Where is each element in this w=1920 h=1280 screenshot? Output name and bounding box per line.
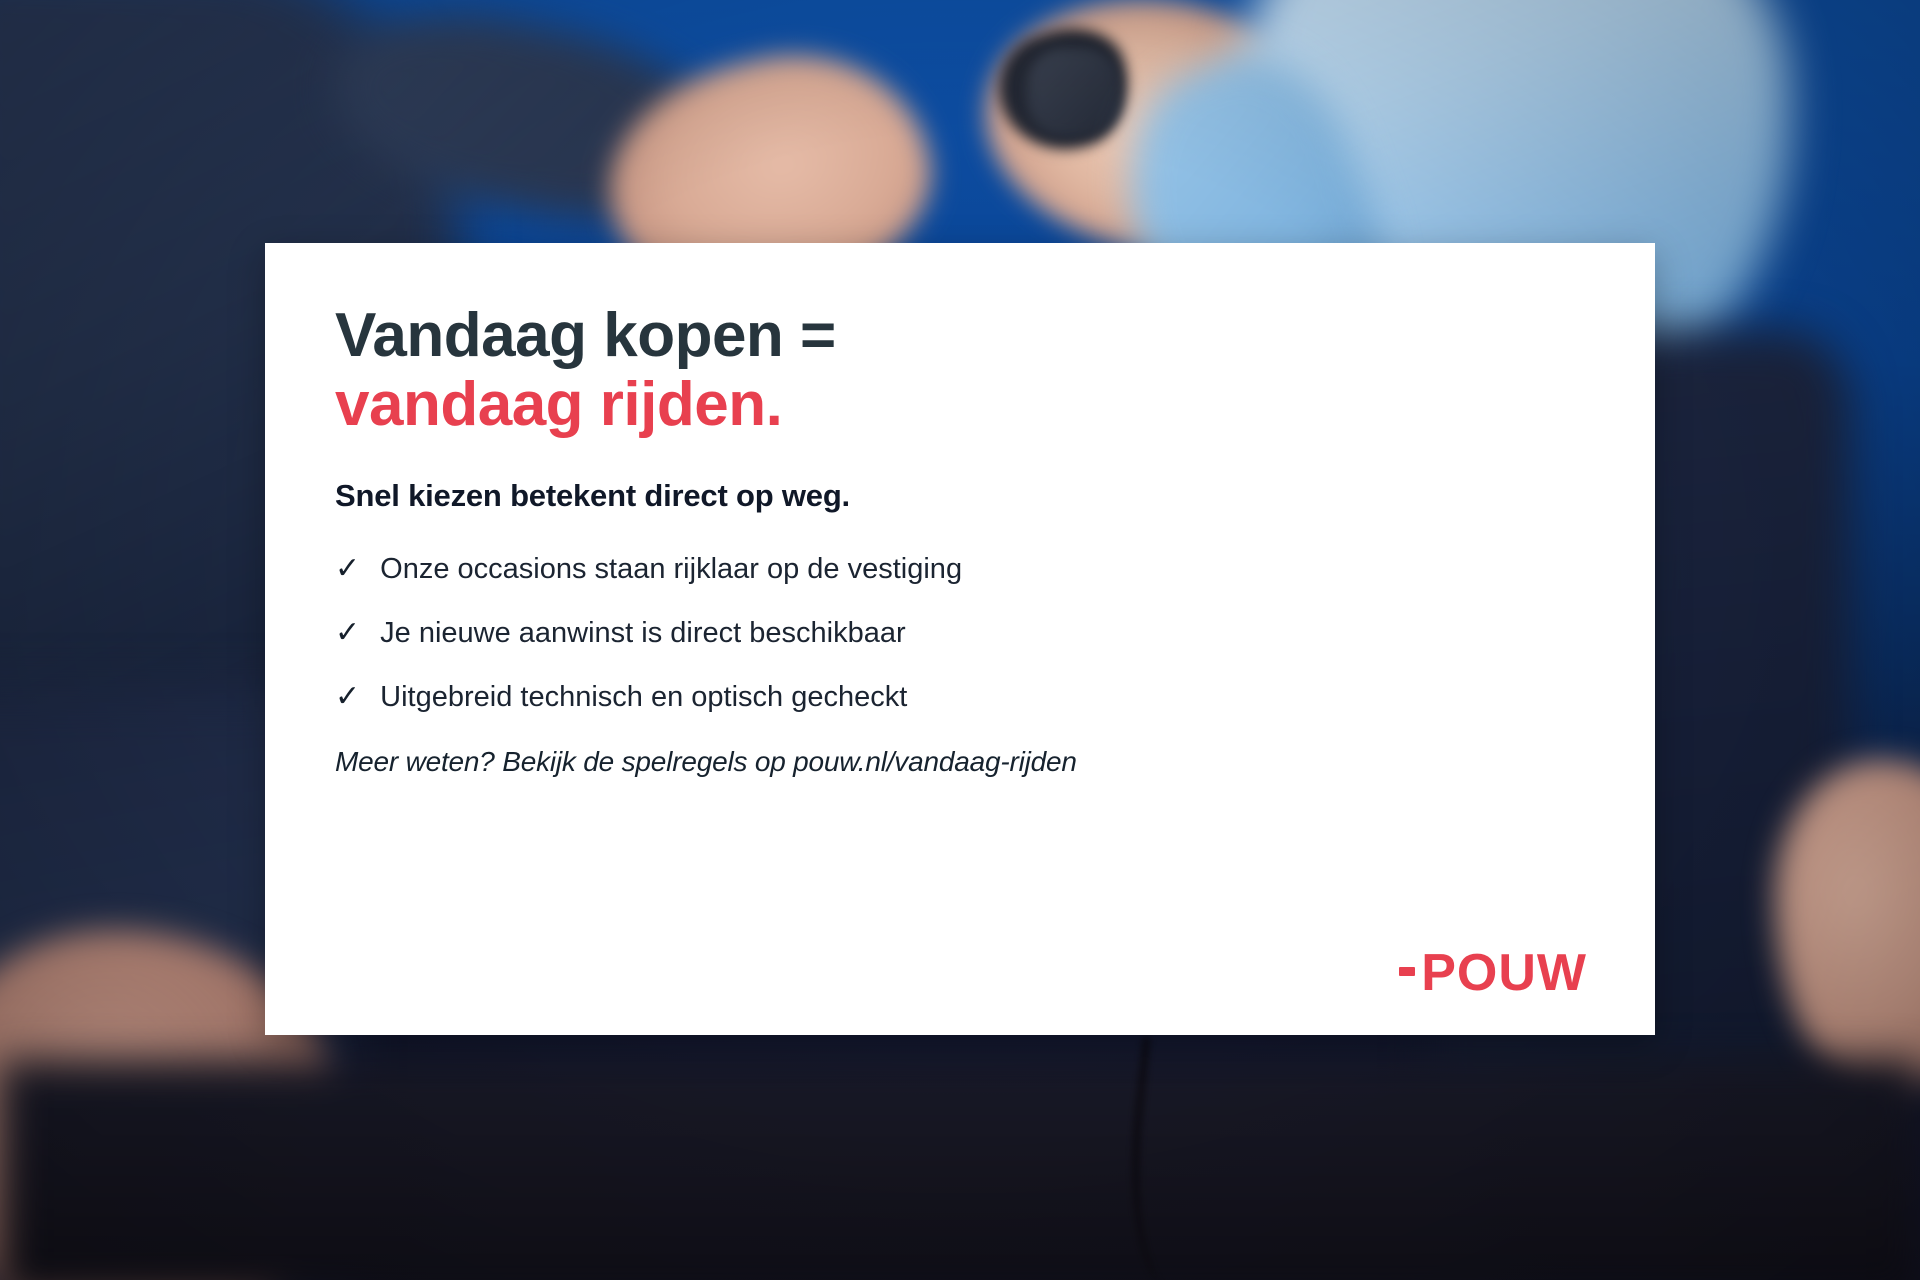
logo-wordmark: POUW (1421, 947, 1587, 999)
promo-card: Vandaag kopen = vandaag rijden. Snel kie… (265, 243, 1655, 1035)
footnote-link-text[interactable]: Meer weten? Bekijk de spelregels op pouw… (335, 746, 1585, 778)
pouw-logo[interactable]: POUW (1399, 947, 1587, 999)
logo-dash-icon (1399, 967, 1415, 976)
list-item-label: Je nieuwe aanwinst is direct beschikbaar (380, 619, 906, 648)
headline-line-2: vandaag rijden. (335, 370, 1585, 439)
check-icon: ✓ (335, 554, 360, 584)
advertisement-stage: Vandaag kopen = vandaag rijden. Snel kie… (0, 0, 1920, 1280)
list-item: ✓ Onze occasions staan rijklaar op de ve… (335, 554, 1585, 584)
list-item-label: Uitgebreid technisch en optisch gecheckt (380, 683, 907, 712)
page-title: Vandaag kopen = vandaag rijden. (335, 301, 1585, 440)
subheading: Snel kiezen betekent direct op weg. (335, 478, 1585, 514)
benefits-list: ✓ Onze occasions staan rijklaar op de ve… (335, 554, 1585, 712)
list-item-label: Onze occasions staan rijklaar op de vest… (380, 555, 962, 584)
check-icon: ✓ (335, 618, 360, 648)
list-item: ✓ Je nieuwe aanwinst is direct beschikba… (335, 618, 1585, 648)
check-icon: ✓ (335, 682, 360, 712)
list-item: ✓ Uitgebreid technisch en optisch gechec… (335, 682, 1585, 712)
headline-line-1: Vandaag kopen = (335, 301, 836, 370)
